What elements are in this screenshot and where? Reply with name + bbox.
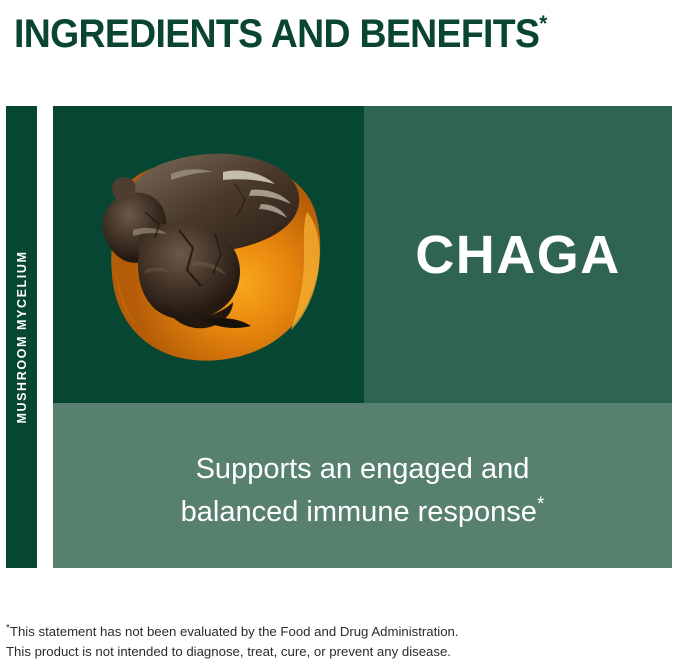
disclaimer: *This statement has not been evaluated b… [6,619,626,662]
ingredient-benefit-panel: Supports an engaged andbalanced immune r… [53,403,672,568]
benefit-line-1: Supports an engaged and [196,453,530,485]
disclaimer-text-1: This statement has not been evaluated by… [10,624,459,639]
disclaimer-line-1: *This statement has not been evaluated b… [6,619,626,642]
page-title-asterisk: * [539,11,547,36]
ingredient-name: CHAGA [415,228,621,282]
category-label: MUSHROOM MYCELIUM [15,250,29,423]
benefit-asterisk: * [537,494,544,515]
page-title-text: INGREDIENTS AND BENEFITS [14,12,539,56]
ingredient-name-panel: CHAGA [364,106,672,403]
chaga-mushroom-image [53,106,364,403]
page-title: INGREDIENTS AND BENEFITS* [14,2,631,56]
disclaimer-line-2: This product is not intended to diagnose… [6,642,626,662]
benefit-line-2: balanced immune response [181,496,537,528]
ingredient-image-panel [53,106,364,403]
ingredient-card: CHAGA Supports an engaged andbalanced im… [53,106,672,568]
benefit-text: Supports an engaged andbalanced immune r… [181,451,545,530]
ingredient-card-top: CHAGA [53,106,672,403]
category-sidebar: MUSHROOM MYCELIUM [6,106,37,568]
